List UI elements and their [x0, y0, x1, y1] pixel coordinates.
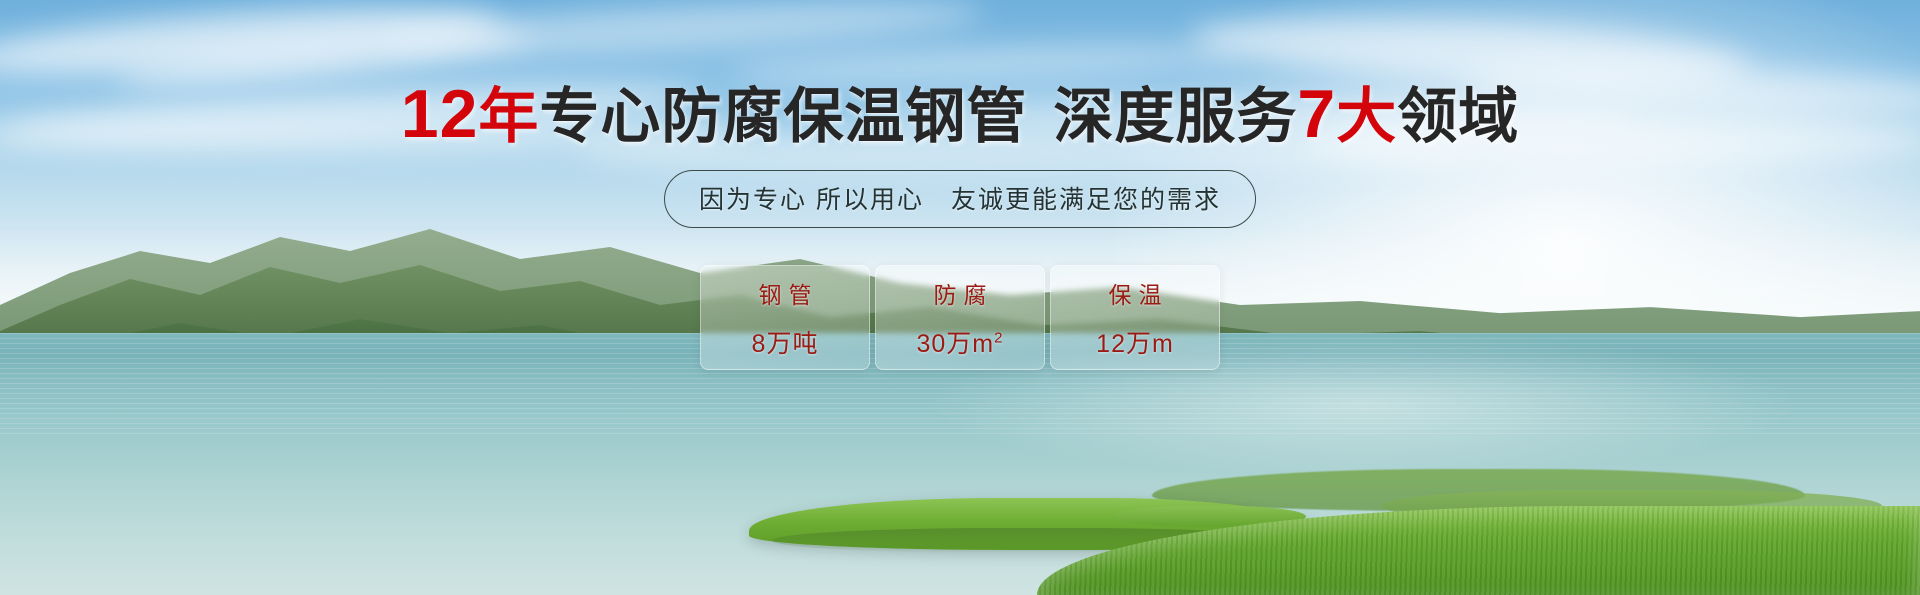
stat-card-value: 12万m	[1096, 324, 1174, 360]
headline-fields-text: 领域	[1397, 83, 1519, 150]
headline-main-text: 专心防腐保温钢管	[539, 83, 1027, 150]
stat-card-anticorrosion: 防腐 30万m2	[875, 265, 1045, 370]
hero-banner: 12年专心防腐保温钢管深度服务7大领域 因为专心 所以用心 友诚更能满足您的需求…	[0, 0, 1920, 595]
stat-card-value: 8万吨	[752, 324, 819, 360]
headline-years-unit: 年	[478, 83, 539, 150]
stat-value-main: 12万m	[1096, 330, 1174, 358]
stat-card-steel-pipe: 钢管 8万吨	[700, 265, 870, 370]
stat-card-insulation: 保温 12万m	[1050, 265, 1220, 370]
stat-value-superscript: 2	[994, 329, 1003, 346]
headline: 12年专心防腐保温钢管深度服务7大领域	[0, 80, 1920, 148]
headline-service-text: 深度服务	[1053, 83, 1297, 150]
stat-card-title: 保温	[1102, 276, 1169, 310]
headline-years-number: 12	[401, 76, 479, 152]
subtitle-pill: 因为专心 所以用心 友诚更能满足您的需求	[664, 170, 1256, 228]
headline-fields-unit: 大	[1336, 83, 1397, 150]
stat-value-main: 8万吨	[752, 330, 819, 358]
stat-card-group: 钢管 8万吨 防腐 30万m2 保温 12万m	[700, 265, 1220, 370]
banner-content: 12年专心防腐保温钢管深度服务7大领域 因为专心 所以用心 友诚更能满足您的需求…	[0, 0, 1920, 595]
stat-card-title: 钢管	[752, 276, 819, 310]
stat-card-title: 防腐	[927, 276, 994, 310]
stat-card-value: 30万m2	[917, 324, 1004, 360]
stat-value-main: 30万m	[917, 330, 995, 358]
headline-fields-number: 7	[1297, 76, 1336, 152]
